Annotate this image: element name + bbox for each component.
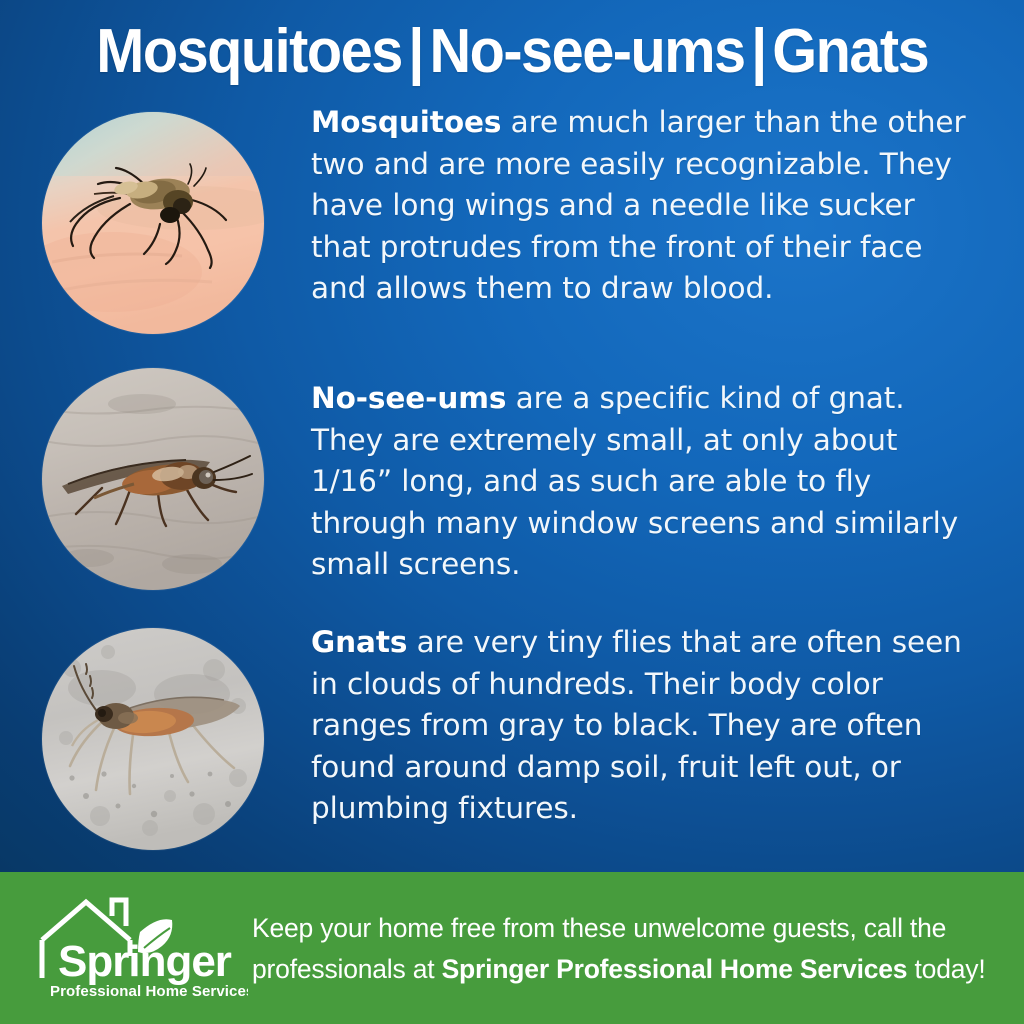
paragraph-mosquitoes: Mosquitoes are much larger than the othe… [311, 102, 979, 310]
infographic-poster: Mosquitoes|No-see-ums|Gnats [0, 0, 1024, 1024]
gnat-photo-circle [42, 628, 264, 850]
paragraph-body-gnats: are very tiny flies that are often seen … [311, 625, 962, 825]
title-part-gnats: Gnats [772, 17, 928, 86]
title-separator-1: | [401, 17, 429, 86]
springer-logo[interactable]: Springer Professional Home Services [34, 894, 248, 1002]
title-part-mosquitoes: Mosquitoes [96, 17, 401, 86]
svg-text:Professional Home Services: Professional Home Services [50, 983, 248, 1000]
paragraph-gnats: Gnats are very tiny flies that are often… [311, 622, 983, 830]
svg-text:Springer: Springer [58, 937, 232, 986]
paragraph-no-see-ums: No-see-ums are a specific kind of gnat. … [311, 378, 975, 586]
poster-title: Mosquitoes|No-see-ums|Gnats [0, 18, 1024, 86]
footer-bar: Springer Professional Home Services Keep… [0, 872, 1024, 1024]
mosquito-photo-circle [42, 112, 264, 334]
title-separator-2: | [744, 17, 772, 86]
title-text-wrapper: Mosquitoes|No-see-ums|Gnats [96, 18, 928, 86]
paragraph-lead-gnats: Gnats [311, 625, 407, 659]
footer-cta-text: Keep your home free from these unwelcome… [252, 908, 1008, 990]
no-see-um-photo-circle [42, 368, 264, 590]
paragraph-lead-mosquitoes: Mosquitoes [311, 105, 501, 139]
paragraph-lead-no-see-ums: No-see-ums [311, 381, 506, 415]
footer-cta-after: today! [907, 954, 985, 984]
footer-cta-brand: Springer Professional Home Services [442, 954, 908, 984]
title-part-no-see-ums: No-see-ums [429, 17, 744, 86]
